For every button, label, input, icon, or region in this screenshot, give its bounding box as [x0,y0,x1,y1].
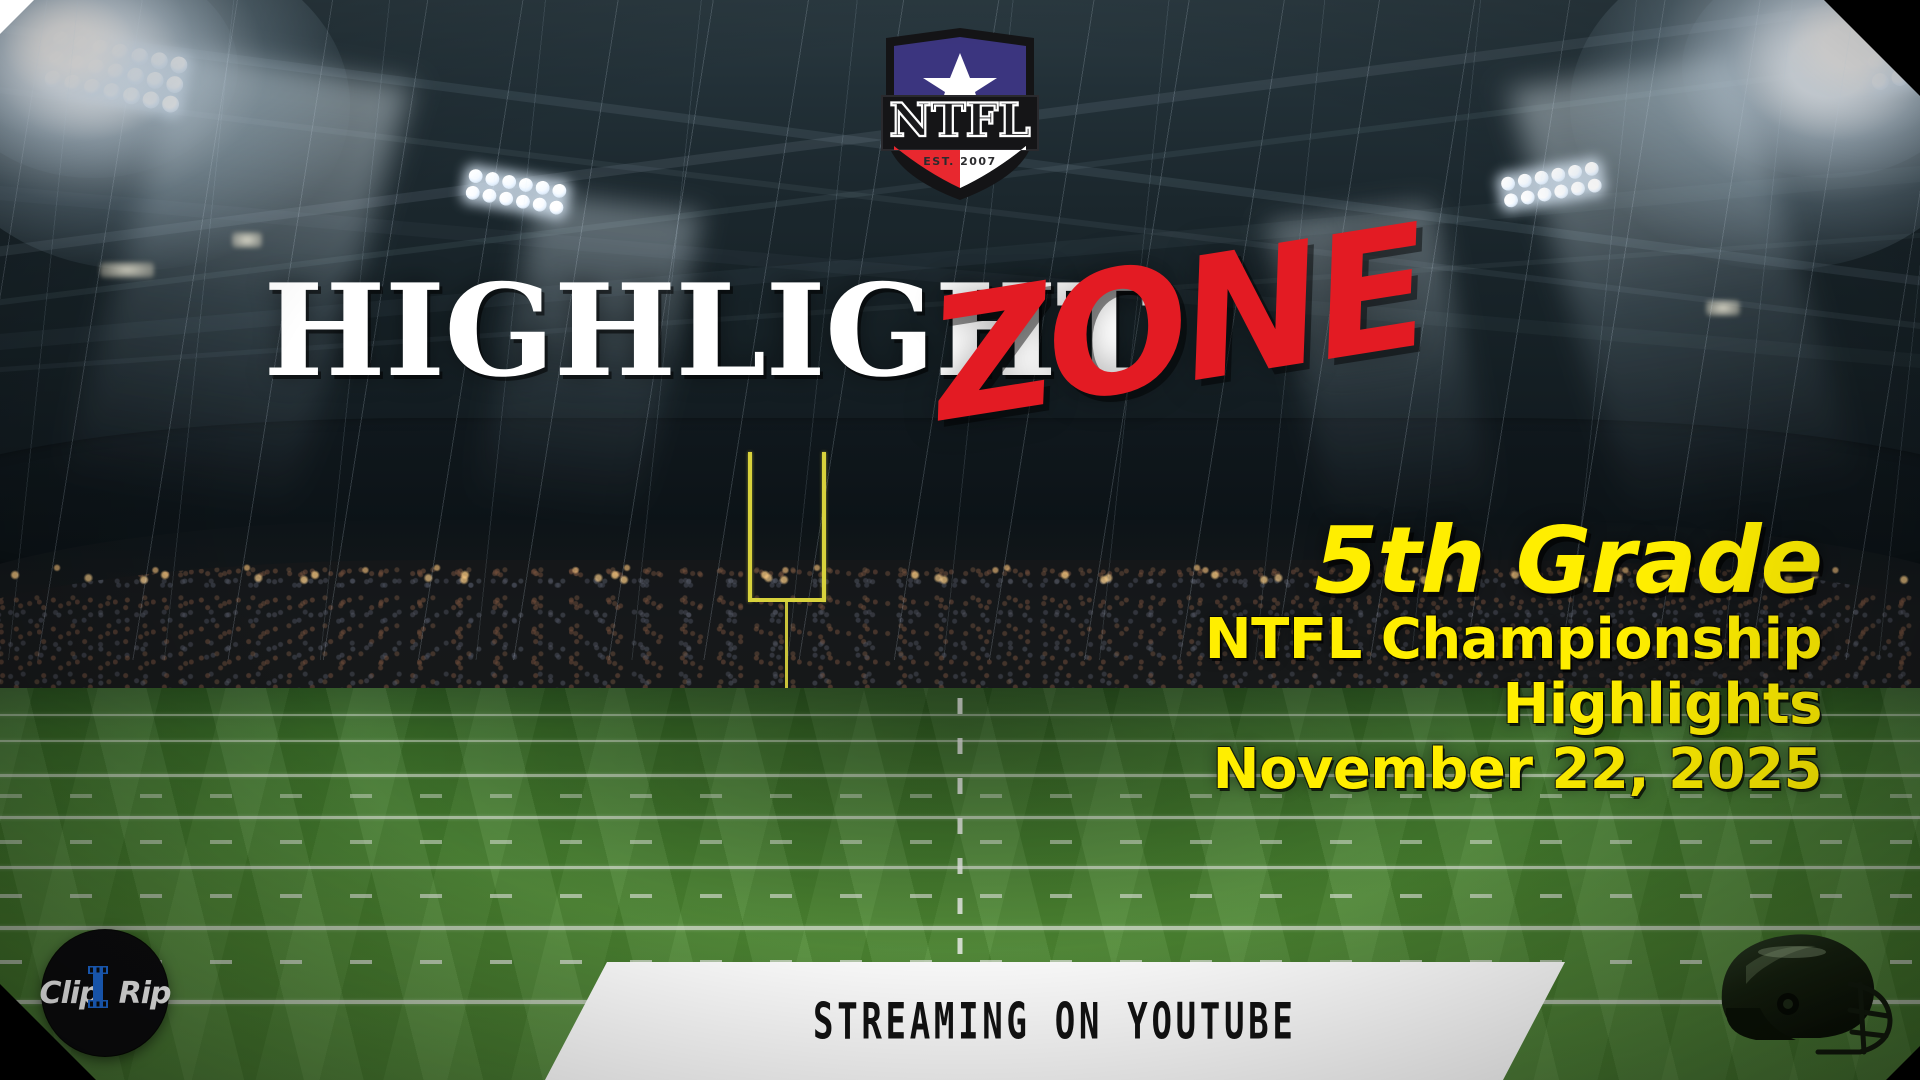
event-title: NTFL Championship Highlights [922,608,1822,738]
logo-established: EST. 2007 [923,155,996,168]
event-info-block: 5th Grade NTFL Championship Highlights N… [922,514,1822,803]
ntfl-shield-logo: NTFL EST. 2007 [878,26,1042,202]
cliprip-brand-second: Rip [119,976,171,1011]
thumbnail-canvas: NTFL EST. 2007 HIGHLIGHT ZONE 5th Grade … [0,0,1920,1080]
streaming-banner-text: STREAMING ON YOUTUBE [813,992,1296,1050]
corner-accent-bottom-left [0,984,96,1080]
corner-accent-bottom-right [1886,1046,1920,1080]
goal-post [748,452,826,700]
title-block: HIGHLIGHT ZONE [0,244,1920,464]
event-date: November 22, 2025 [922,738,1822,803]
grade-label: 5th Grade [922,514,1822,608]
corner-accent-top-left [0,0,34,34]
streaming-banner: STREAMING ON YOUTUBE [545,962,1565,1080]
corner-accent-top-right [1824,0,1920,96]
football-helmet-icon [1700,912,1910,1072]
logo-wordmark: NTFL [889,93,1030,147]
